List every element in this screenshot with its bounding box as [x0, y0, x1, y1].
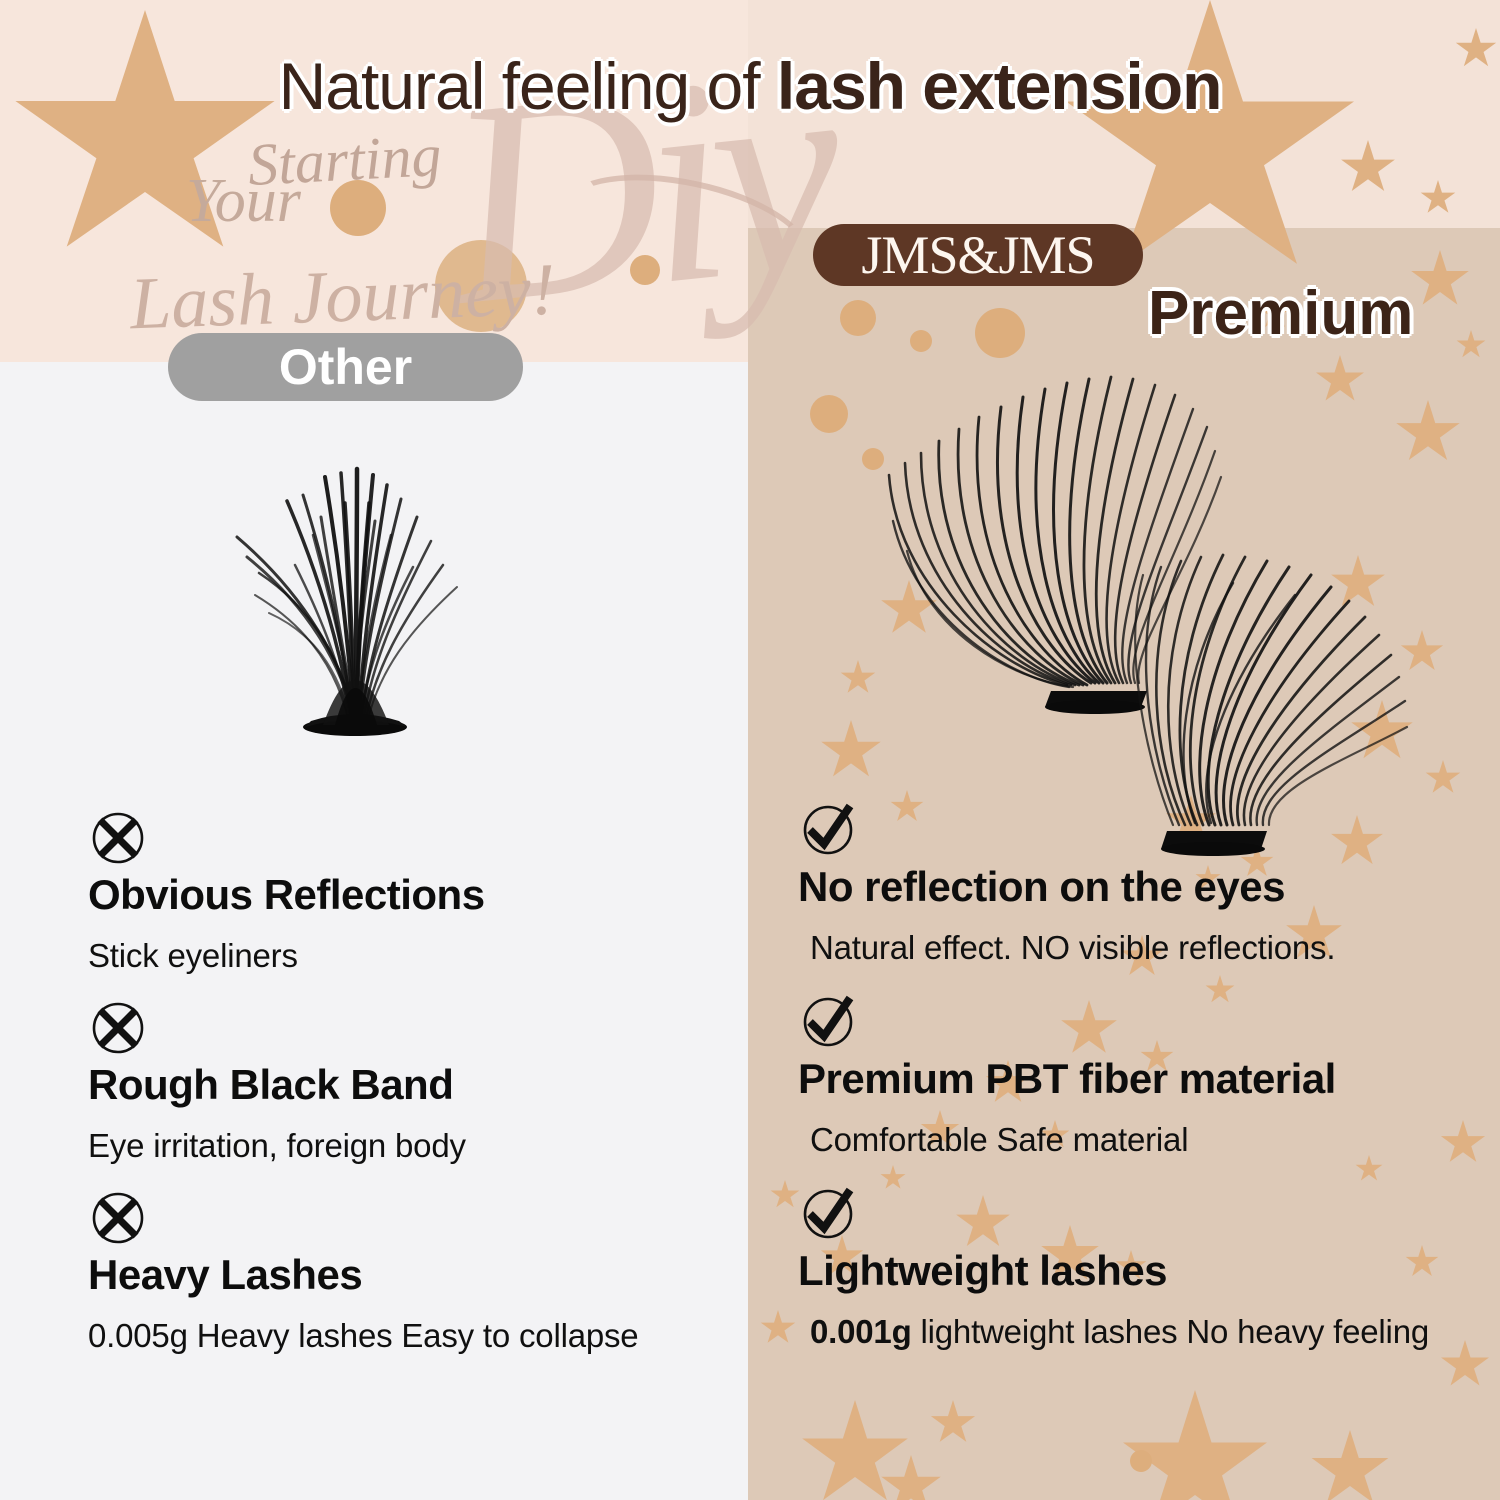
right-feature-list: No reflection on the eyes Natural effect…: [798, 800, 1458, 1375]
decor-dot-r2: [910, 330, 932, 352]
decor-script-your: Your: [186, 166, 301, 237]
decor-dot-r4: [810, 395, 848, 433]
feature-title: No reflection on the eyes: [798, 864, 1458, 910]
decor-dot-r1: [840, 300, 876, 336]
page-title: Natural feeling of lash extension: [0, 52, 1500, 121]
feature-subtitle: Eye irritation, foreign body: [88, 1126, 728, 1166]
right-feature-item-0: No reflection on the eyes Natural effect…: [798, 800, 1458, 968]
cross-circle-icon: [88, 998, 148, 1058]
cross-circle-icon: [88, 808, 148, 868]
feature-title: Premium PBT fiber material: [798, 1056, 1458, 1102]
feature-subtitle: Comfortable Safe material: [810, 1120, 1458, 1160]
check-circle-icon: [798, 992, 858, 1052]
check-circle-icon: [798, 1184, 858, 1244]
feature-subtitle: 0.005g Heavy lashes Easy to collapse: [88, 1316, 728, 1356]
check-circle-icon: [798, 800, 858, 860]
feature-title: Obvious Reflections: [88, 872, 728, 918]
feature-title: Heavy Lashes: [88, 1252, 728, 1298]
single-lash-cluster-photo: [185, 455, 525, 765]
feature-subtitle: Stick eyeliners: [88, 936, 728, 976]
feature-title: Lightweight lashes: [798, 1248, 1458, 1294]
premium-label: Premium: [1148, 278, 1413, 349]
feature-subtitle: Natural effect. NO visible reflections.: [810, 928, 1458, 968]
right-feature-item-2: Lightweight lashes 0.001g lightweight la…: [798, 1184, 1458, 1352]
badge-other: Other: [168, 333, 523, 401]
feature-subtitle-weight: 0.001g: [810, 1313, 912, 1350]
decor-dot-b1: [1130, 1450, 1152, 1472]
headline-bold-part: lash extension: [777, 49, 1222, 123]
left-feature-item-2: Heavy Lashes 0.005g Heavy lashes Easy to…: [88, 1188, 728, 1356]
left-feature-list: Obvious Reflections Stick eyeliners Roug…: [88, 808, 728, 1377]
left-feature-item-0: Obvious Reflections Stick eyeliners: [88, 808, 728, 976]
two-lash-clusters-photo: [855, 355, 1415, 875]
product-comparison-infographic: Diy Starting Your Lash Journey! Natural …: [0, 0, 1500, 1500]
left-feature-item-1: Rough Black Band Eye irritation, foreign…: [88, 998, 728, 1166]
feature-title: Rough Black Band: [88, 1062, 728, 1108]
right-feature-item-1: Premium PBT fiber material Comfortable S…: [798, 992, 1458, 1160]
headline-regular-part: Natural feeling of: [279, 49, 777, 123]
feature-subtitle: 0.001g lightweight lashes No heavy feeli…: [810, 1312, 1458, 1352]
decor-dot-r3: [975, 308, 1025, 358]
feature-subtitle-rest: lightweight lashes No heavy feeling: [912, 1313, 1429, 1350]
cross-circle-icon: [88, 1188, 148, 1248]
brand-badge-jms: JMS&JMS: [813, 224, 1143, 286]
